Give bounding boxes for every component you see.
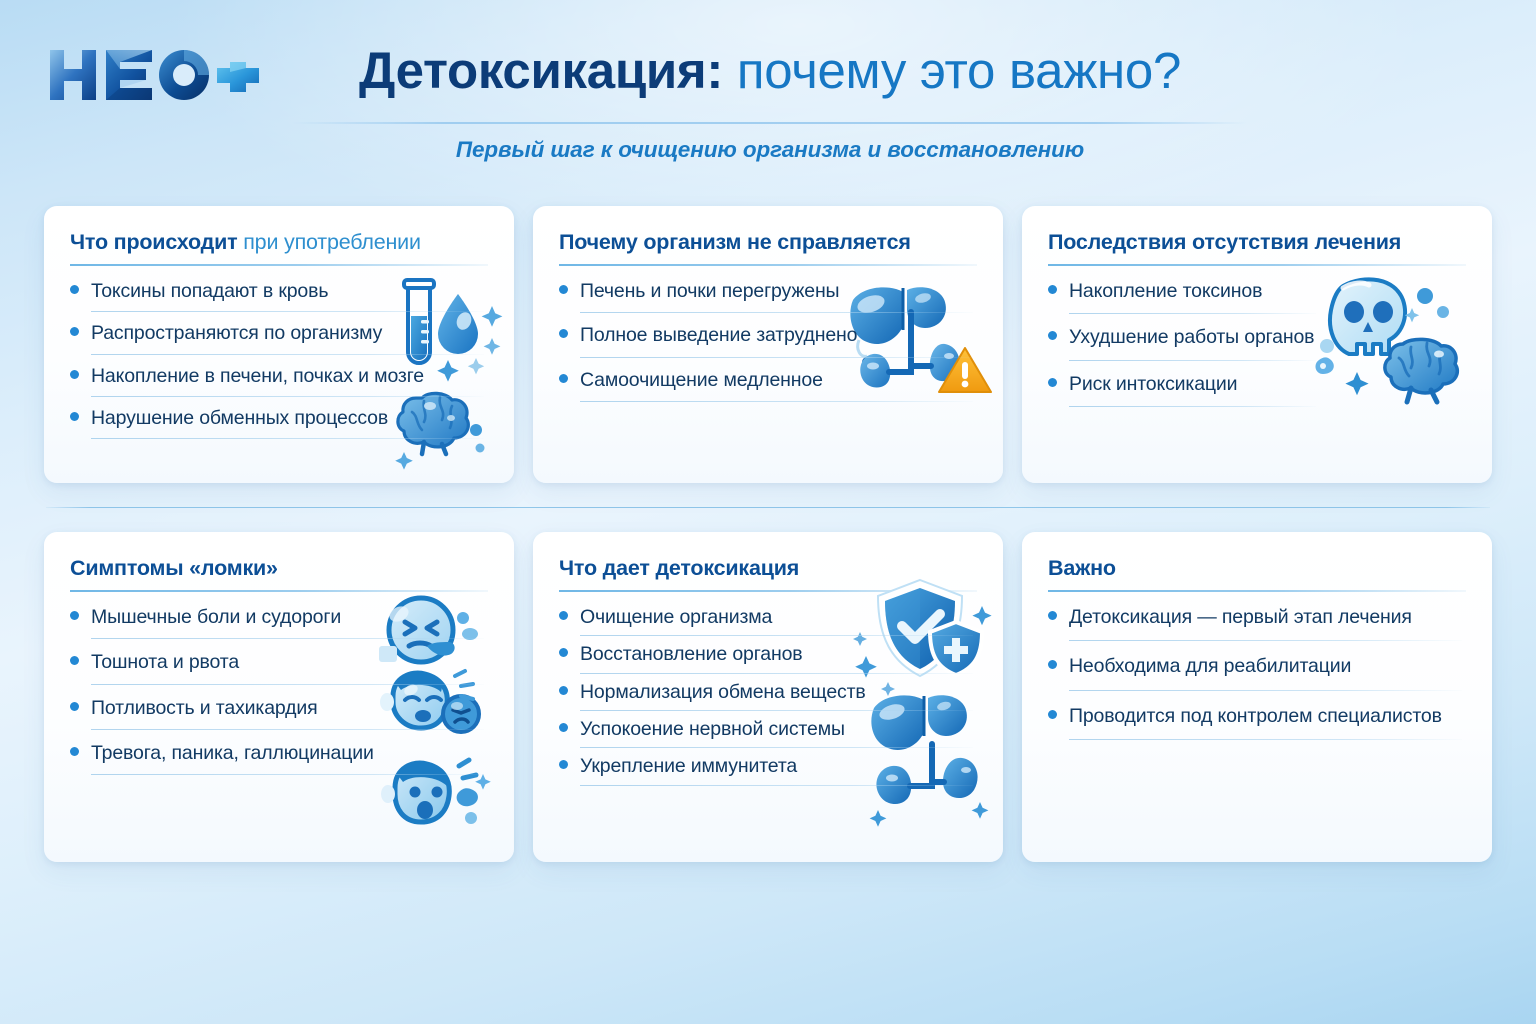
item-divider [91,774,484,775]
bullet-icon [1048,660,1057,669]
list-item: Ухудшение работы органов [1048,326,1466,360]
bullet-icon [559,686,568,695]
list-item-label: Восстановление органов [580,643,802,666]
bullet-icon [1048,285,1057,294]
item-divider [580,785,973,786]
card-title: Последствия отсутствия лечения [1048,230,1466,255]
item-divider [1069,739,1462,740]
list-item-label: Накопление в печени, почках и мозге [91,365,424,388]
card-title-divider [1048,590,1466,592]
list-item: Риск интоксикации [1048,373,1466,407]
card-what-happens: Что происходит при употреблении [44,206,514,483]
list-item-label: Тошнота и рвота [91,651,239,674]
list-item: Проводится под контролем специалистов [1048,705,1466,740]
card-withdrawal-symptoms: Симптомы «ломки» [44,532,514,862]
bullet-icon [559,723,568,732]
item-divider [1069,690,1462,691]
card-title-strong: Симптомы «ломки» [70,556,278,580]
title-divider [292,122,1248,124]
list-item-label: Проводится под контролем специалистов [1069,705,1442,728]
cards-grid: Что происходит при употреблении [44,206,1492,862]
list-item-label: Мышечные боли и судороги [91,606,341,629]
list-item: Мышечные боли и судороги [70,606,488,639]
list-item-label: Токсины попадают в кровь [91,280,328,303]
bullet-icon [70,656,79,665]
bullet-icon [559,760,568,769]
card-title-strong: Последствия отсутствия лечения [1048,230,1401,254]
item-divider [91,354,484,355]
list-item: Печень и почки перегружены [559,280,977,313]
item-divider [1069,640,1462,641]
page-title-light: почему это важно? [723,42,1181,99]
list-item-label: Полное выведение затруднено [580,324,857,347]
item-divider [580,673,973,674]
item-divider [91,438,484,439]
cards-row-top: Что происходит при употреблении [44,206,1492,483]
list-item: Нормализация обмена веществ [559,681,977,711]
list-item-label: Тревога, паника, галлюцинации [91,742,374,765]
item-divider [1069,360,1316,361]
list-item: Накопление токсинов [1048,280,1466,314]
list-item-label: Печень и почки перегружены [580,280,839,303]
card-title-light: при употреблении [237,230,420,254]
card-items: Печень и почки перегружены Полное выведе… [559,280,977,402]
item-divider [91,684,484,685]
card-items: Накопление токсинов Ухудшение работы орг… [1048,280,1466,407]
card-title-divider [70,264,488,266]
list-item-label: Распространяются по организму [91,322,382,345]
item-divider [91,729,484,730]
item-divider [91,311,484,312]
list-item: Распространяются по организму [70,322,488,354]
bullet-icon [1048,611,1057,620]
card-title-strong: Что дает детоксикация [559,556,799,580]
card-title-divider [559,264,977,266]
item-divider [580,747,973,748]
page-title-strong: Детоксикация: [359,42,723,99]
item-divider [580,312,973,313]
bullet-icon [559,648,568,657]
rows-divider [46,507,1490,508]
neo-plus-logo-icon [44,42,259,108]
list-item: Очищение организма [559,606,977,636]
list-item: Детоксикация — первый этап лечения [1048,606,1466,641]
card-title-divider [559,590,977,592]
list-item: Потливость и тахикардия [70,697,488,730]
bullet-icon [559,329,568,338]
item-divider [580,357,973,358]
card-title: Почему организм не справляется [559,230,977,255]
card-title-strong: Что происходит [70,230,237,254]
list-item: Нарушение обменных процессов [70,407,488,439]
bullet-icon [70,702,79,711]
item-divider [580,635,973,636]
card-detox-benefits: Что дает детоксикация [533,532,1003,862]
bullet-icon [1048,710,1057,719]
list-item-label: Успокоение нервной системы [580,718,845,741]
card-important: Важно Детоксикация — первый этап лечения… [1022,532,1492,862]
bullet-icon [70,327,79,336]
card-title: Симптомы «ломки» [70,556,488,581]
card-why-body-fails: Почему организм не справляется [533,206,1003,483]
list-item: Самоочищение медленное [559,369,977,402]
bullet-icon [559,285,568,294]
infographic-page: Детоксикация: почему это важно? Первый ш… [0,0,1536,1024]
bullet-icon [70,370,79,379]
card-items: Токсины попадают в кровь Распространяютс… [70,280,488,440]
bullet-icon [559,611,568,620]
header: Детоксикация: почему это важно? Первый ш… [0,0,1536,190]
card-title-strong: Важно [1048,556,1116,580]
item-divider [580,401,973,402]
item-divider [1069,406,1316,407]
card-items: Мышечные боли и судороги Тошнота и рвота… [70,606,488,776]
card-title-divider [1048,264,1466,266]
item-divider [91,396,484,397]
bullet-icon [1048,331,1057,340]
card-items: Очищение организма Восстановление органо… [559,606,977,786]
card-title: Что дает детоксикация [559,556,977,581]
card-title: Важно [1048,556,1466,581]
card-consequences: Последствия отсутствия лечения [1022,206,1492,483]
card-items: Детоксикация — первый этап лечения Необх… [1048,606,1466,740]
list-item-label: Укрепление иммунитета [580,755,797,778]
list-item-label: Детоксикация — первый этап лечения [1069,606,1412,629]
item-divider [1069,313,1316,314]
bullet-icon [1048,378,1057,387]
bullet-icon [70,285,79,294]
list-item-label: Самоочищение медленное [580,369,823,392]
page-subtitle: Первый шаг к очищению организма и восста… [290,137,1250,163]
list-item-label: Необходима для реабилитации [1069,655,1351,678]
list-item: Полное выведение затруднено [559,324,977,357]
list-item: Укрепление иммунитета [559,755,977,785]
bullet-icon [70,611,79,620]
page-title: Детоксикация: почему это важно? [290,44,1250,98]
bullet-icon [70,747,79,756]
list-item: Успокоение нервной системы [559,718,977,748]
bullet-icon [559,374,568,383]
cards-row-bottom: Симптомы «ломки» [44,532,1492,862]
card-title-divider [70,590,488,592]
list-item-label: Очищение организма [580,606,772,629]
card-title: Что происходит при употреблении [70,230,488,255]
list-item: Накопление в печени, почках и мозге [70,365,488,397]
list-item: Тошнота и рвота [70,651,488,684]
list-item: Необходима для реабилитации [1048,655,1466,690]
list-item-label: Потливость и тахикардия [91,697,318,720]
list-item-label: Нарушение обменных процессов [91,407,388,430]
list-item: Восстановление органов [559,643,977,673]
list-item-label: Нормализация обмена веществ [580,681,866,704]
list-item-label: Накопление токсинов [1069,280,1262,303]
list-item-label: Ухудшение работы органов [1069,326,1314,349]
list-item: Тревога, паника, галлюцинации [70,742,488,775]
item-divider [580,710,973,711]
list-item-label: Риск интоксикации [1069,373,1237,396]
list-item: Токсины попадают в кровь [70,280,488,312]
bullet-icon [70,412,79,421]
card-title-strong: Почему организм не справляется [559,230,911,254]
item-divider [91,638,484,639]
